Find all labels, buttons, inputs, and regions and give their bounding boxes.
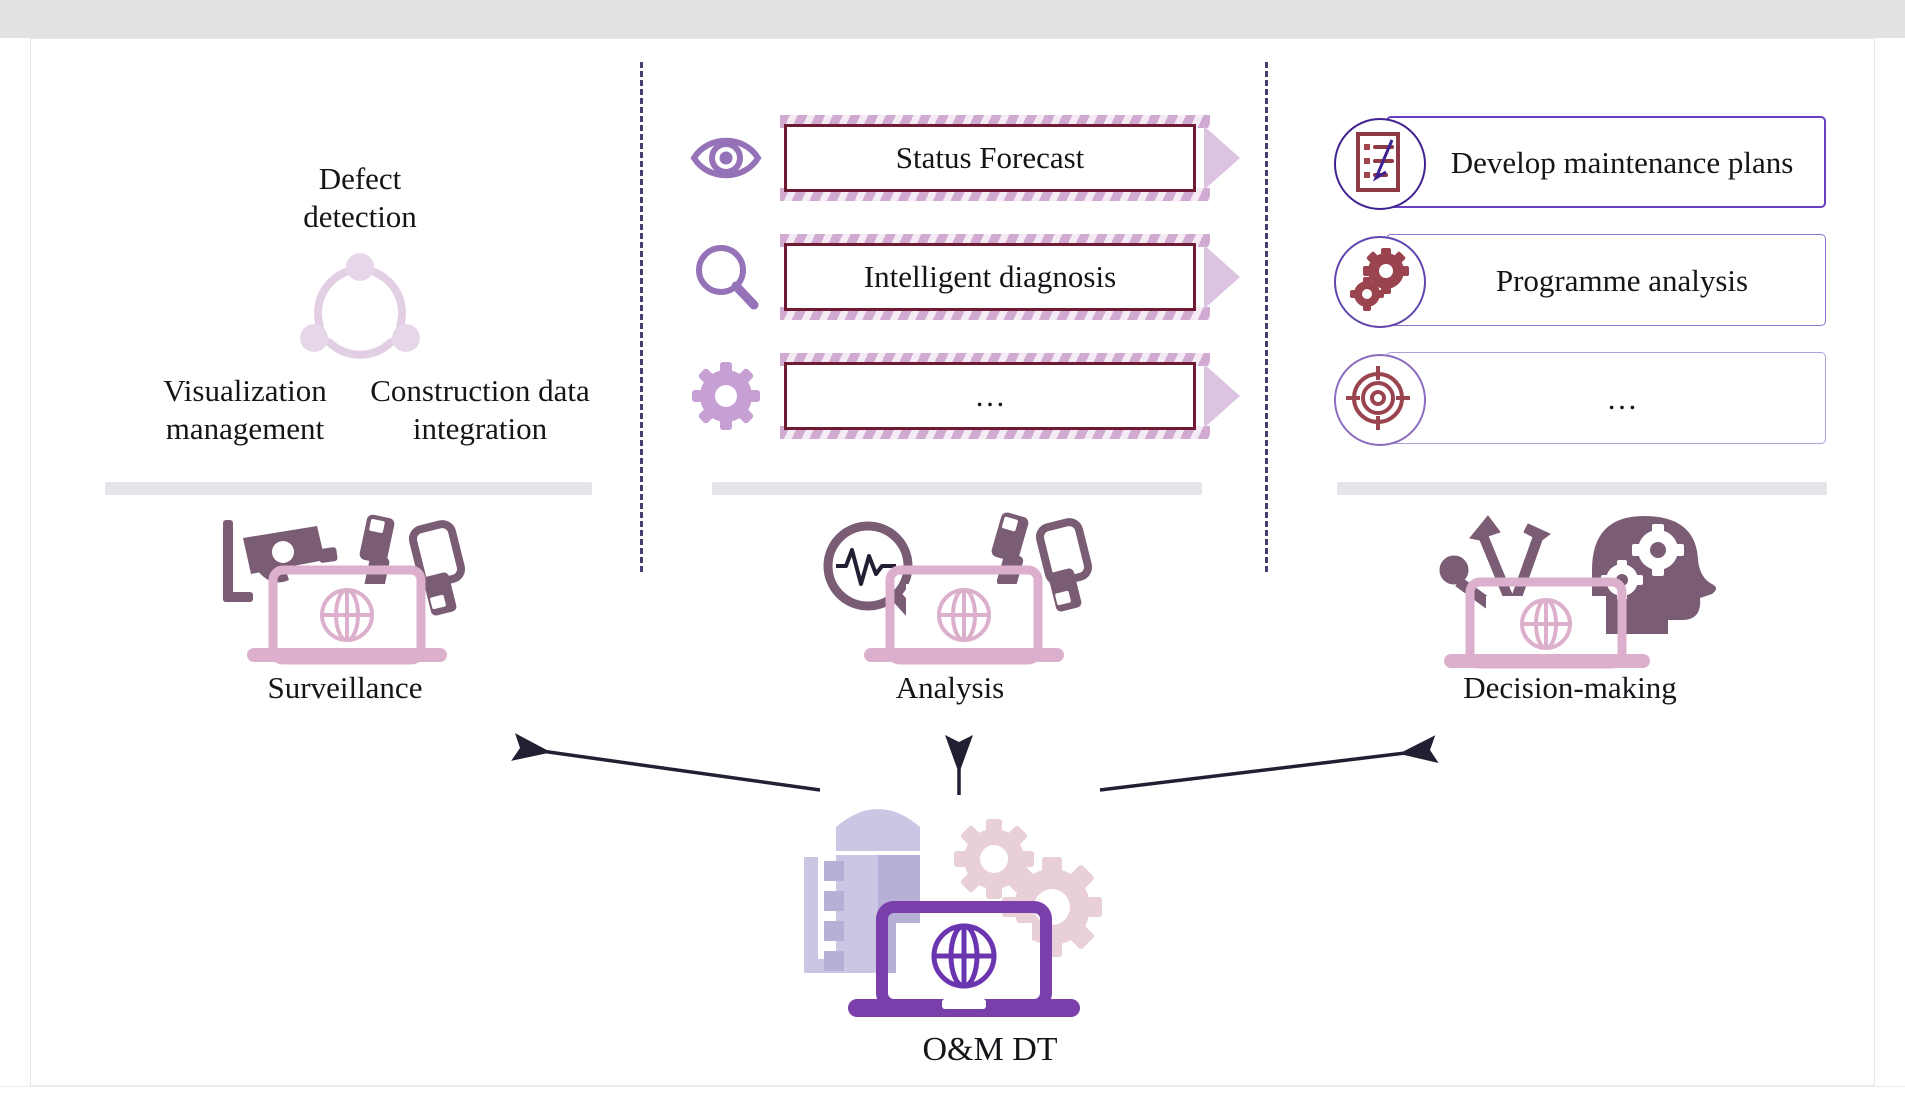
node-decision-making[interactable]: Decision-making (1410, 508, 1730, 706)
column-divider-right (1265, 62, 1268, 572)
cctv-laptop-icon (195, 508, 495, 668)
banner-label: Status Forecast (896, 140, 1085, 176)
right-box-label: Develop maintenance plans (1451, 144, 1794, 181)
right-box-label: Programme analysis (1496, 262, 1748, 299)
target-icon (1334, 354, 1426, 446)
three-node-cycle-icon (296, 250, 424, 360)
node-label: Decision-making (1410, 670, 1730, 706)
magnifier-icon (690, 242, 762, 312)
right-row-develop-maintenance-plans[interactable]: Develop maintenance plans (1330, 112, 1850, 212)
node-om-dt[interactable]: O&M DT (790, 775, 1190, 1069)
banner-arrow-tip (1204, 126, 1240, 190)
top-grey-strip (0, 0, 1905, 38)
separator-bar-right (1337, 482, 1827, 495)
separator-bar-middle (712, 482, 1202, 495)
right-box: Develop maintenance plans (1386, 116, 1826, 208)
middle-row-status-forecast[interactable]: Status Forecast (680, 115, 1240, 201)
banner-status-forecast: Status Forecast (780, 115, 1240, 201)
banner-label: Intelligent diagnosis (864, 259, 1116, 295)
right-box: … (1386, 352, 1826, 444)
label-construction-data-integration: Construction data integration (350, 372, 610, 448)
building-laptop-gears-icon (790, 775, 1190, 1025)
banner-arrow-tip (1204, 364, 1240, 428)
column-divider-left (640, 62, 643, 572)
node-label: Analysis (800, 670, 1100, 706)
middle-row-intelligent-diagnosis[interactable]: Intelligent diagnosis (680, 234, 1240, 320)
right-row-more[interactable]: … (1330, 348, 1850, 448)
right-box: Programme analysis (1386, 234, 1826, 326)
node-analysis[interactable]: Analysis (800, 508, 1100, 706)
banner-label: … (975, 378, 1006, 414)
gears-icon (1334, 236, 1426, 328)
banner-box: Status Forecast (784, 124, 1196, 192)
banner-intelligent-diagnosis: Intelligent diagnosis (780, 234, 1240, 320)
diagram-canvas: Defect detection Visualization managemen… (0, 0, 1905, 1113)
banner-box: Intelligent diagnosis (784, 243, 1196, 311)
right-box-label: … (1607, 380, 1638, 417)
banner-box: … (784, 362, 1196, 430)
separator-bar-left (105, 482, 592, 495)
banner-more: … (780, 353, 1240, 439)
label-defect-detection: Defect detection (270, 160, 450, 236)
checklist-icon (1334, 118, 1426, 210)
right-row-programme-analysis[interactable]: Programme analysis (1330, 230, 1850, 330)
middle-column: Status Forecast Intelligent diagnosis (680, 115, 1240, 455)
banner-arrow-tip (1204, 245, 1240, 309)
label-visualization-management: Visualization management (130, 372, 360, 448)
eye-icon (690, 123, 762, 193)
magnifier-pulse-laptop-icon (800, 508, 1100, 668)
bottom-strip (0, 1086, 1905, 1113)
right-column: Develop maintenance plans (1330, 112, 1850, 462)
node-label: Surveillance (195, 670, 495, 706)
node-label: O&M DT (790, 1031, 1190, 1069)
node-surveillance[interactable]: Surveillance (195, 508, 495, 706)
gear-icon (690, 361, 762, 431)
left-column: Defect detection Visualization managemen… (100, 150, 600, 480)
brain-gears-laptop-icon (1410, 508, 1730, 668)
middle-row-more[interactable]: … (680, 353, 1240, 439)
